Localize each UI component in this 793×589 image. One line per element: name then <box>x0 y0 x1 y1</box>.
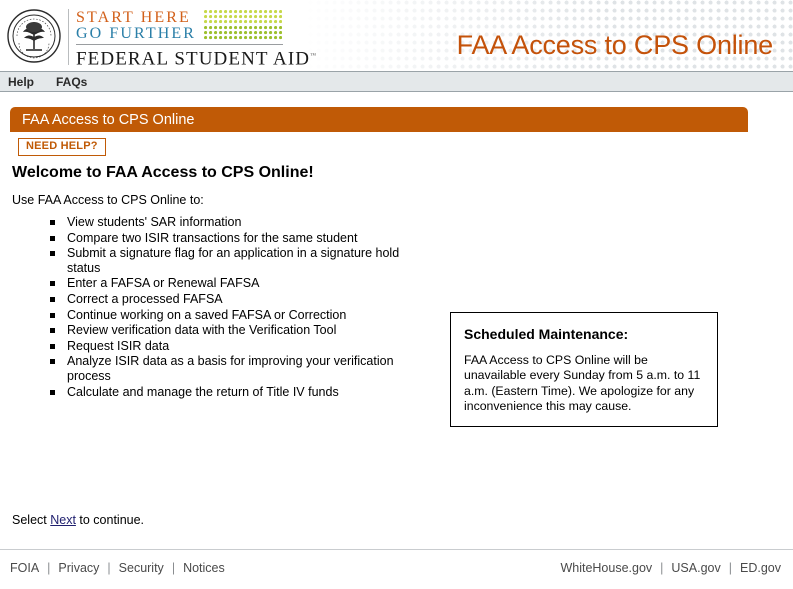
footer-link-ed-gov[interactable]: ED.gov <box>740 561 781 575</box>
banner-title: FAA Access to CPS Online <box>22 113 194 127</box>
menu-item-help[interactable]: Help <box>8 76 34 88</box>
select-next-instruction: Select Next to continue. <box>12 513 144 527</box>
site-footer: FOIA|Privacy|Security|Notices WhiteHouse… <box>0 549 793 589</box>
list-item: Correct a processed FAFSA <box>50 292 420 307</box>
trademark-mark: ™ <box>310 53 317 59</box>
logo-dot-pattern-lower <box>204 26 282 40</box>
footer-link-whitehouse-gov[interactable]: WhiteHouse.gov <box>560 561 652 575</box>
page-title: Welcome to FAA Access to CPS Online! <box>12 164 314 182</box>
application-title: FAA Access to CPS Online <box>457 30 773 61</box>
logo-line-go-further: GO FURTHER <box>76 25 283 41</box>
footer-link-security[interactable]: Security <box>119 561 164 575</box>
list-item: Compare two ISIR transactions for the sa… <box>50 231 420 246</box>
footer-link-privacy[interactable]: Privacy <box>58 561 99 575</box>
logo-text-go-further: GO FURTHER <box>76 26 196 42</box>
scheduled-maintenance-notice: Scheduled Maintenance: FAA Access to CPS… <box>450 312 718 427</box>
footer-link-notices[interactable]: Notices <box>183 561 225 575</box>
footer-links-left: FOIA|Privacy|Security|Notices <box>10 561 225 575</box>
main-menu-bar: Help FAQs <box>0 71 793 92</box>
list-item: Submit a signature flag for an applicati… <box>50 246 420 275</box>
site-header: START HERE GO FURTHER FEDERAL STUDENT AI… <box>0 0 793 71</box>
next-link[interactable]: Next <box>50 513 76 527</box>
select-prefix: Select <box>12 513 50 527</box>
footer-separator: | <box>107 561 110 575</box>
logo-fsa-words: FEDERAL STUDENT AID <box>76 48 310 69</box>
maintenance-title: Scheduled Maintenance: <box>464 326 704 342</box>
footer-separator: | <box>660 561 663 575</box>
select-suffix: to continue. <box>76 513 144 527</box>
feature-list: View students' SAR information Compare t… <box>50 215 420 400</box>
list-item: Review verification data with the Verifi… <box>50 323 420 338</box>
footer-separator: | <box>172 561 175 575</box>
logo-text-start-here: START HERE <box>76 10 191 26</box>
footer-link-foia[interactable]: FOIA <box>10 561 39 575</box>
list-item: View students' SAR information <box>50 215 420 230</box>
footer-separator: | <box>47 561 50 575</box>
department-of-education-seal-icon <box>7 9 61 63</box>
logo-line-start-here: START HERE <box>76 9 283 25</box>
list-item: Request ISIR data <box>50 339 420 354</box>
section-banner: FAA Access to CPS Online <box>10 107 748 132</box>
footer-separator: | <box>729 561 732 575</box>
list-item: Enter a FAFSA or Renewal FAFSA <box>50 276 420 291</box>
list-item: Analyze ISIR data as a basis for improvi… <box>50 354 420 383</box>
federal-student-aid-logo: START HERE GO FURTHER FEDERAL STUDENT AI… <box>68 9 283 65</box>
menu-item-faqs[interactable]: FAQs <box>56 76 87 88</box>
logo-dot-pattern-upper <box>204 10 282 24</box>
page-content: FAA Access to CPS Online NEED HELP? Welc… <box>0 92 793 588</box>
list-item: Continue working on a saved FAFSA or Cor… <box>50 308 420 323</box>
need-help-button-top[interactable]: NEED HELP? <box>18 138 106 156</box>
list-item: Calculate and manage the return of Title… <box>50 385 420 400</box>
maintenance-body: FAA Access to CPS Online will be unavail… <box>464 353 704 414</box>
intro-text: Use FAA Access to CPS Online to: <box>12 193 204 207</box>
footer-link-usa-gov[interactable]: USA.gov <box>671 561 720 575</box>
footer-links-right: WhiteHouse.gov|USA.gov|ED.gov <box>560 561 781 575</box>
logo-text-federal-student-aid: FEDERAL STUDENT AID™ <box>76 44 283 69</box>
